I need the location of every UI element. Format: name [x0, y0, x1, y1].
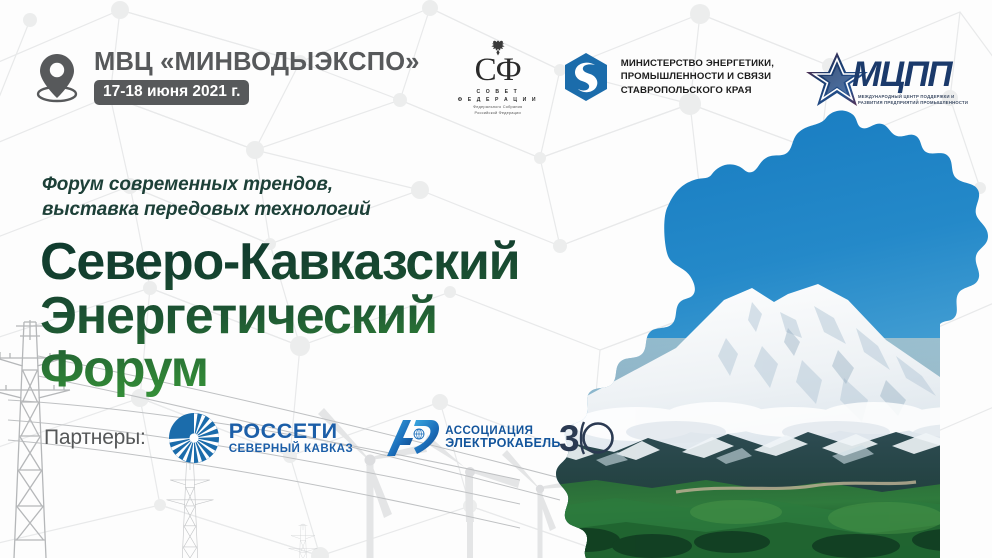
ministry-line-1: МИНИСТЕРСТВО ЭНЕРГЕТИКИ,	[621, 57, 774, 71]
rosseti-name: РОССЕТИ	[229, 420, 354, 443]
event-tagline: Форум современных трендов, выставка пере…	[42, 172, 371, 222]
ministry-logo: МИНИСТЕРСТВО ЭНЕРГЕТИКИ, ПРОМЫШЛЕННОСТИ …	[562, 52, 774, 102]
ministry-line-2: ПРОМЫШЛЕННОСТИ И СВЯЗИ	[621, 70, 774, 84]
federation-council-logo: СФ С О В Е Т Ф Е Д Е Р А Ц И И Федеральн…	[462, 39, 534, 114]
tagline-line-2: выставка передовых технологий	[42, 197, 371, 222]
aek-line-2: ЭЛЕКТРОКАБЕЛЬ	[445, 437, 560, 451]
map-pin-icon	[34, 51, 80, 103]
aek-monogram-icon	[383, 416, 443, 460]
sf-line-4: Российской Федерации	[475, 110, 521, 115]
mcpp-wordmark: МЦПП	[852, 57, 951, 92]
hexagon-s-icon	[562, 52, 610, 102]
banner-header: МВЦ «МИНВОДЫЭКСПО» 17-18 июня 2021 г. СФ…	[0, 34, 992, 120]
sf-line-1: С О В Е Т	[476, 89, 518, 95]
venue-block: МВЦ «МИНВОДЫЭКСПО» 17-18 июня 2021 г.	[34, 50, 420, 105]
rosseti-text: РОССЕТИ СЕВЕРНЫЙ КАВКАЗ	[229, 420, 354, 456]
mount-elbrus-photo	[556, 88, 992, 558]
event-banner: МВЦ «МИНВОДЫЭКСПО» 17-18 июня 2021 г. СФ…	[0, 0, 992, 558]
sf-line-2: Ф Е Д Е Р А Ц И И	[458, 97, 538, 103]
partner-elektrokabel[interactable]: АССОЦИАЦИЯ ЭЛЕКТРОКАБЕЛЬ 3	[383, 416, 613, 460]
rosseti-sunburst-icon	[168, 412, 220, 464]
sf-monogram: СФ	[475, 55, 521, 86]
ministry-line-3: СТАВРОПОЛЬСКОГО КРАЯ	[621, 84, 774, 98]
ministry-text: МИНИСТЕРСТВО ЭНЕРГЕТИКИ, ПРОМЫШЛЕННОСТИ …	[621, 57, 774, 98]
tagline-line-1: Форум современных трендов,	[42, 172, 371, 197]
partners-label: Партнеры:	[44, 426, 146, 450]
svg-text:3: 3	[559, 418, 579, 459]
rosseti-subtitle: СЕВЕРНЫЙ КАВКАЗ	[229, 443, 354, 456]
event-date-badge: 17-18 июня 2021 г.	[94, 80, 249, 105]
sf-line-3: Федерального Собрания	[473, 104, 522, 109]
partner-rosseti[interactable]: РОССЕТИ СЕВЕРНЫЙ КАВКАЗ	[168, 412, 354, 464]
mcpp-logo: МЦПП МЕЖДУНАРОДНЫЙ ЦЕНТР ПОДДЕРЖКИ И РАЗ…	[804, 44, 974, 110]
partners-row: Партнеры:	[44, 412, 614, 464]
mcpp-tagline-line-2: РАЗВИТИЯ ПРЕДПРИЯТИЙ ПРОМЫШЛЕННОСТИ	[858, 100, 968, 106]
aek-anniversary-30-icon: 3	[558, 416, 614, 460]
mcpp-tagline: МЕЖДУНАРОДНЫЙ ЦЕНТР ПОДДЕРЖКИ И РАЗВИТИЯ…	[858, 94, 968, 107]
venue-text: МВЦ «МИНВОДЫЭКСПО» 17-18 июня 2021 г.	[94, 50, 420, 105]
aek-text: АССОЦИАЦИЯ ЭЛЕКТРОКАБЕЛЬ	[445, 425, 560, 451]
page-title: Северо-Кавказский Энергетический Форум	[40, 236, 519, 397]
venue-name: МВЦ «МИНВОДЫЭКСПО»	[94, 50, 420, 76]
